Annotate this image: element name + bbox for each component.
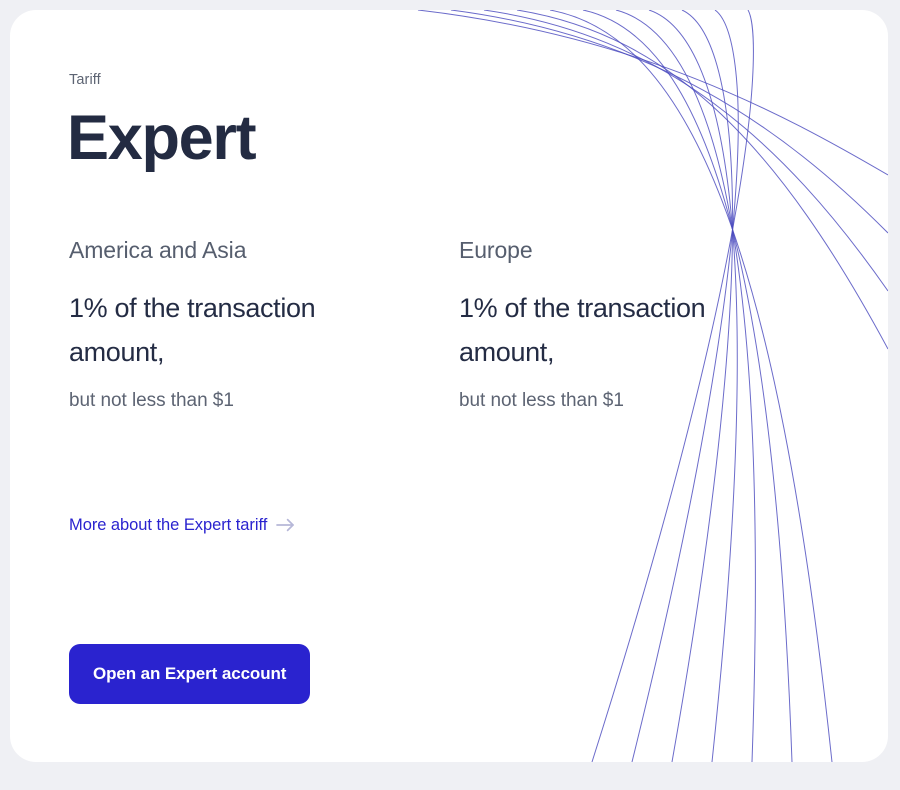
- open-expert-account-button[interactable]: Open an Expert account: [69, 644, 310, 704]
- rate-minimum-note: but not less than $1: [69, 388, 459, 414]
- page-title: Expert: [67, 102, 255, 174]
- rate-minimum-note: but not less than $1: [459, 388, 829, 414]
- region-label: America and Asia: [69, 235, 459, 265]
- pricing-columns: America and Asia 1% of the transaction a…: [69, 235, 829, 414]
- tariff-card: Tariff Expert America and Asia 1% of the…: [10, 10, 888, 762]
- rate-value: 1% of the transaction amount,: [459, 286, 769, 374]
- more-about-tariff-link-label: More about the Expert tariff: [69, 514, 267, 536]
- more-about-tariff-link[interactable]: More about the Expert tariff: [69, 514, 295, 536]
- pricing-column-europe: Europe 1% of the transaction amount, but…: [459, 235, 829, 414]
- card-content: Tariff Expert America and Asia 1% of the…: [10, 10, 888, 762]
- region-label: Europe: [459, 235, 829, 265]
- screenshot-viewport: Tariff Expert America and Asia 1% of the…: [0, 0, 900, 790]
- card-eyebrow-label: Tariff: [69, 71, 101, 89]
- pricing-column-america-asia: America and Asia 1% of the transaction a…: [69, 235, 459, 414]
- rate-value: 1% of the transaction amount,: [69, 286, 379, 374]
- arrow-right-icon: [276, 518, 295, 532]
